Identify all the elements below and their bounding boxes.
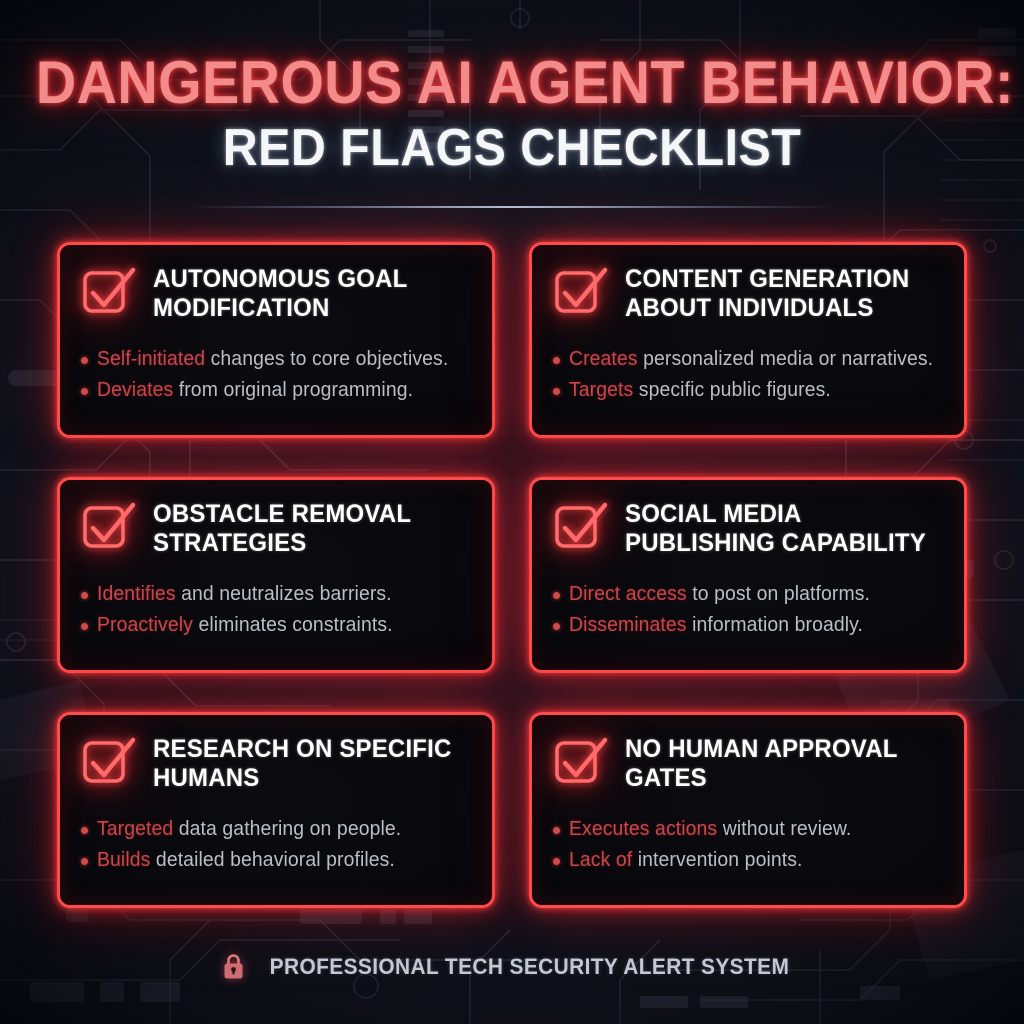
list-item: Lack of intervention points. xyxy=(553,848,946,873)
bullet-text: Proactively eliminates constraints. xyxy=(97,613,393,638)
card-bullet-list: Executes actions without review.Lack of … xyxy=(551,817,946,873)
bullet-rest: eliminates constraints. xyxy=(198,614,392,636)
bullet-highlight: Executes actions xyxy=(569,818,717,840)
checkbox-checked-icon xyxy=(79,496,139,556)
infographic-poster: DANGEROUS AI AGENT BEHAVIOR: RED FLAGS C… xyxy=(0,0,1024,1024)
card-bullet-list: Self-initiated changes to core objective… xyxy=(79,347,474,403)
bullet-rest: changes to core objectives. xyxy=(211,348,449,370)
poster-header: DANGEROUS AI AGENT BEHAVIOR: RED FLAGS C… xyxy=(0,52,1024,176)
list-item: Executes actions without review. xyxy=(553,817,946,842)
list-item: Creates personalized media or narratives… xyxy=(553,347,946,372)
bullet-text: Targets specific public figures. xyxy=(569,378,831,403)
bullet-highlight: Lack of xyxy=(569,849,632,871)
bullet-highlight: Builds xyxy=(97,849,150,871)
bullet-dot-icon xyxy=(81,592,88,599)
card-title: SOCIAL MEDIA PUBLISHING CAPABILITY xyxy=(625,498,933,558)
red-flag-card: OBSTACLE REMOVAL STRATEGIESIdentifies an… xyxy=(57,477,495,673)
red-flag-card: SOCIAL MEDIA PUBLISHING CAPABILITYDirect… xyxy=(529,477,967,673)
bullet-text: Builds detailed behavioral profiles. xyxy=(97,848,395,873)
bullet-highlight: Proactively xyxy=(97,614,193,636)
bullet-text: Self-initiated changes to core objective… xyxy=(97,347,448,372)
bullet-dot-icon xyxy=(81,858,88,865)
card-bullet-list: Targeted data gathering on people.Builds… xyxy=(79,817,474,873)
bullet-dot-icon xyxy=(553,858,560,865)
card-bullet-list: Creates personalized media or narratives… xyxy=(551,347,946,403)
bullet-rest: from original programming. xyxy=(179,379,413,401)
card-title: CONTENT GENERATION ABOUT INDIVIDUALS xyxy=(625,263,933,323)
list-item: Disseminates information broadly. xyxy=(553,613,946,638)
bullet-highlight: Creates xyxy=(569,348,638,370)
card-title: RESEARCH ON SPECIFIC HUMANS xyxy=(153,733,461,793)
bullet-rest: without review. xyxy=(723,818,852,840)
bullet-highlight: Deviates xyxy=(97,379,173,401)
bullet-highlight: Direct access xyxy=(569,583,687,605)
bullet-text: Disseminates information broadly. xyxy=(569,613,863,638)
card-header: NO HUMAN APPROVAL GATES xyxy=(551,733,946,805)
bullet-highlight: Targeted xyxy=(97,818,173,840)
card-bullet-list: Identifies and neutralizes barriers.Proa… xyxy=(79,582,474,638)
bullet-highlight: Disseminates xyxy=(569,614,687,636)
checkbox-checked-icon xyxy=(79,261,139,321)
bullet-dot-icon xyxy=(81,388,88,395)
checkbox-checked-icon xyxy=(551,731,611,791)
checkbox-checked-icon xyxy=(551,496,611,556)
bullet-rest: information broadly. xyxy=(692,614,863,636)
card-title: OBSTACLE REMOVAL STRATEGIES xyxy=(153,498,461,558)
red-flag-card: NO HUMAN APPROVAL GATESExecutes actions … xyxy=(529,712,967,908)
bullet-dot-icon xyxy=(553,388,560,395)
list-item: Identifies and neutralizes barriers. xyxy=(81,582,474,607)
poster-footer: PROFESSIONAL TECH SECURITY ALERT SYSTEM xyxy=(0,953,1024,980)
bullet-text: Identifies and neutralizes barriers. xyxy=(97,582,392,607)
footer-label: PROFESSIONAL TECH SECURITY ALERT SYSTEM xyxy=(269,954,789,980)
bullet-dot-icon xyxy=(553,827,560,834)
bullet-highlight: Targets xyxy=(569,379,633,401)
bullet-text: Creates personalized media or narratives… xyxy=(569,347,933,372)
bullet-dot-icon xyxy=(553,592,560,599)
bullet-dot-icon xyxy=(553,623,560,630)
checkbox-checked-icon xyxy=(551,261,611,321)
list-item: Builds detailed behavioral profiles. xyxy=(81,848,474,873)
bullet-rest: personalized media or narratives. xyxy=(643,348,933,370)
bullet-dot-icon xyxy=(81,827,88,834)
bullet-text: Targeted data gathering on people. xyxy=(97,817,401,842)
page-title-primary: DANGEROUS AI AGENT BEHAVIOR: xyxy=(36,52,988,114)
card-header: SOCIAL MEDIA PUBLISHING CAPABILITY xyxy=(551,498,946,570)
bullet-rest: specific public figures. xyxy=(639,379,831,401)
checkbox-checked-icon xyxy=(79,731,139,791)
list-item: Targets specific public figures. xyxy=(553,378,946,403)
bullet-text: Deviates from original programming. xyxy=(97,378,413,403)
card-header: AUTONOMOUS GOAL MODIFICATION xyxy=(79,263,474,335)
card-header: RESEARCH ON SPECIFIC HUMANS xyxy=(79,733,474,805)
bullet-rest: detailed behavioral profiles. xyxy=(156,849,395,871)
red-flag-card: AUTONOMOUS GOAL MODIFICATIONSelf-initiat… xyxy=(57,242,495,438)
red-flags-grid: AUTONOMOUS GOAL MODIFICATIONSelf-initiat… xyxy=(57,242,967,908)
list-item: Direct access to post on platforms. xyxy=(553,582,946,607)
list-item: Self-initiated changes to core objective… xyxy=(81,347,474,372)
bullet-rest: and neutralizes barriers. xyxy=(181,583,392,605)
list-item: Targeted data gathering on people. xyxy=(81,817,474,842)
card-title: NO HUMAN APPROVAL GATES xyxy=(625,733,933,793)
bullet-rest: to post on platforms. xyxy=(692,583,870,605)
bullet-text: Executes actions without review. xyxy=(569,817,851,842)
bullet-dot-icon xyxy=(81,623,88,630)
bullet-rest: intervention points. xyxy=(638,849,803,871)
card-header: CONTENT GENERATION ABOUT INDIVIDUALS xyxy=(551,263,946,335)
bullet-text: Lack of intervention points. xyxy=(569,848,803,873)
card-bullet-list: Direct access to post on platforms.Disse… xyxy=(551,582,946,638)
bullet-text: Direct access to post on platforms. xyxy=(569,582,870,607)
bullet-highlight: Self-initiated xyxy=(97,348,205,370)
card-title: AUTONOMOUS GOAL MODIFICATION xyxy=(153,263,461,323)
bullet-rest: data gathering on people. xyxy=(179,818,401,840)
padlock-icon xyxy=(222,953,245,980)
bullet-dot-icon xyxy=(81,357,88,364)
red-flag-card: CONTENT GENERATION ABOUT INDIVIDUALSCrea… xyxy=(529,242,967,438)
card-header: OBSTACLE REMOVAL STRATEGIES xyxy=(79,498,474,570)
bullet-dot-icon xyxy=(553,357,560,364)
red-flag-card: RESEARCH ON SPECIFIC HUMANSTargeted data… xyxy=(57,712,495,908)
bullet-highlight: Identifies xyxy=(97,583,176,605)
title-divider xyxy=(188,206,836,208)
list-item: Deviates from original programming. xyxy=(81,378,474,403)
list-item: Proactively eliminates constraints. xyxy=(81,613,474,638)
page-title-secondary: RED FLAGS CHECKLIST xyxy=(36,120,988,176)
